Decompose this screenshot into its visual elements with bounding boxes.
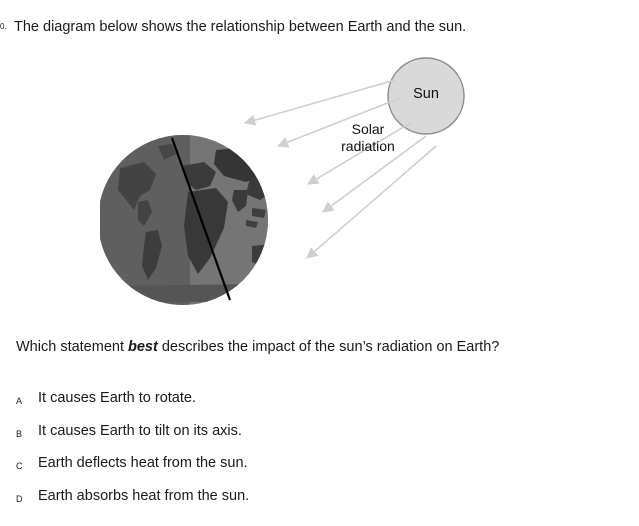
solar-radiation-label: Solar radiation [320,121,416,155]
leadin-after: describes the impact of the sun’s radiat… [158,339,500,355]
solar-radiation-label-line1: Solar [320,121,416,138]
earth-shape [100,130,290,310]
leadin-emphasis: best [128,339,158,355]
diagram-graphic [100,50,520,315]
choice-d-letter: D [16,488,38,508]
choice-c-text: Earth deflects heat from the sun. [38,455,248,472]
choice-a[interactable]: A It causes Earth to rotate. [16,390,576,410]
choice-a-letter: A [16,390,38,410]
choice-b-letter: B [16,423,38,443]
choice-c[interactable]: C Earth deflects heat from the sun. [16,455,576,475]
question-number: 0. [0,18,14,33]
solar-radiation-label-line2: radiation [320,138,416,155]
choice-b-text: It causes Earth to tilt on its axis. [38,423,242,440]
question-stem: 0. The diagram below shows the relations… [0,18,620,36]
choice-a-text: It causes Earth to rotate. [38,390,196,407]
ray-1 [245,80,395,123]
ray-5 [307,146,436,258]
choice-b[interactable]: B It causes Earth to tilt on its axis. [16,423,576,443]
answer-choices: A It causes Earth to rotate. B It causes… [16,390,576,520]
earth-continents [100,130,290,310]
question-page: 0. The diagram below shows the relations… [0,0,639,526]
leadin-before: Which statement [16,339,128,355]
question-leadin: Which statement best describes the impac… [16,338,576,357]
choice-d[interactable]: D Earth absorbs heat from the sun. [16,488,576,508]
sun-label: Sun [396,86,456,102]
choice-c-letter: C [16,455,38,475]
question-stem-text: The diagram below shows the relationship… [14,18,466,36]
choice-d-text: Earth absorbs heat from the sun. [38,488,249,505]
earth-sun-diagram: Solar radiation Sun [100,50,520,315]
